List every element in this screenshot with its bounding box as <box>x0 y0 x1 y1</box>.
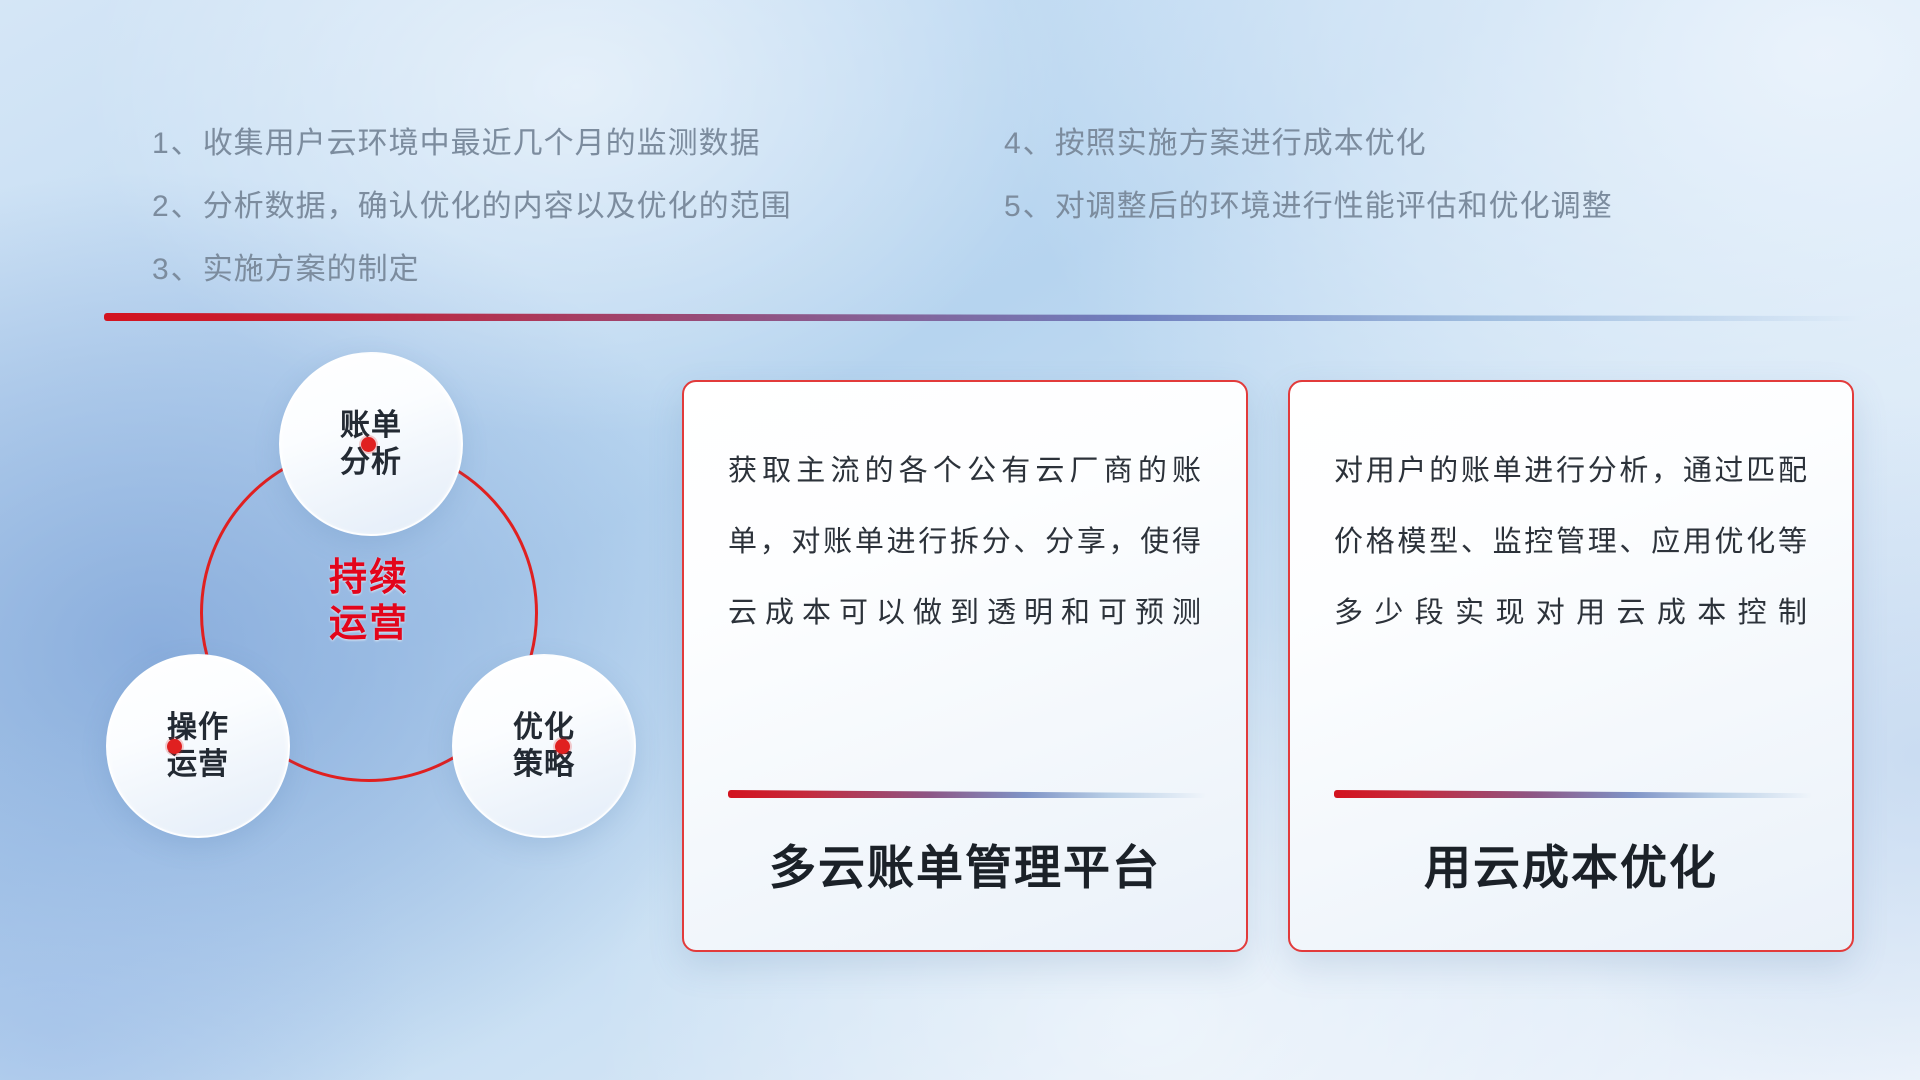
diagram-node-dot-right <box>555 739 570 754</box>
process-step-5-number: 5、 <box>1004 190 1055 223</box>
feature-card-cloud-cost-optimization-body: 对用户的账单进行分析，通过匹配价格模型、监控管理、应用优化等多少段实现对用云成本… <box>1334 436 1808 649</box>
feature-card-multicloud-billing[interactable]: 获取主流的各个公有云厂商的账单，对账单进行拆分、分享，使得云成本可以做到透明和可… <box>682 380 1248 952</box>
diagram-node-dot-top <box>361 437 376 452</box>
diagram-bubble-optimization-strategy[interactable]: 优化策略 <box>452 654 636 838</box>
feature-card-cloud-cost-optimization-title: 用云成本优化 <box>1290 829 1852 898</box>
diagram-bubble-operations[interactable]: 操作运营 <box>106 654 290 838</box>
process-step-1: 1、收集用户云环境中最近几个月的监测数据 <box>152 118 761 162</box>
feature-card-cloud-cost-optimization[interactable]: 对用户的账单进行分析，通过匹配价格模型、监控管理、应用优化等多少段实现对用云成本… <box>1288 380 1854 952</box>
process-step-2: 2、分析数据，确认优化的内容以及优化的范围 <box>152 181 792 225</box>
continuous-operation-diagram: 账单分析 操作运营 优化策略 持续运营 <box>96 352 656 952</box>
process-step-3-number: 3、 <box>152 253 203 286</box>
process-step-1-number: 1、 <box>152 127 203 160</box>
process-step-3-text: 实施方案的制定 <box>203 253 420 286</box>
diagram-center-label: 持续运营 <box>279 555 459 648</box>
feature-card-cloud-cost-optimization-divider <box>1334 790 1812 798</box>
feature-card-multicloud-billing-title: 多云账单管理平台 <box>684 829 1246 898</box>
process-step-1-text: 收集用户云环境中最近几个月的监测数据 <box>203 127 761 160</box>
process-step-2-number: 2、 <box>152 190 203 223</box>
process-step-3: 3、实施方案的制定 <box>152 244 420 288</box>
process-step-4: 4、按照实施方案进行成本优化 <box>1004 118 1427 162</box>
process-step-4-number: 4、 <box>1004 127 1055 160</box>
process-step-5: 5、对调整后的环境进行性能评估和优化调整 <box>1004 181 1613 225</box>
process-step-4-text: 按照实施方案进行成本优化 <box>1055 127 1427 160</box>
feature-card-multicloud-billing-divider <box>728 790 1206 798</box>
process-step-5-text: 对调整后的环境进行性能评估和优化调整 <box>1055 190 1613 223</box>
feature-card-multicloud-billing-body: 获取主流的各个公有云厂商的账单，对账单进行拆分、分享，使得云成本可以做到透明和可… <box>728 436 1202 649</box>
process-step-2-text: 分析数据，确认优化的内容以及优化的范围 <box>203 190 792 223</box>
process-step-list: 1、收集用户云环境中最近几个月的监测数据 2、分析数据，确认优化的内容以及优化的… <box>0 0 1920 300</box>
diagram-node-dot-left <box>167 739 182 754</box>
